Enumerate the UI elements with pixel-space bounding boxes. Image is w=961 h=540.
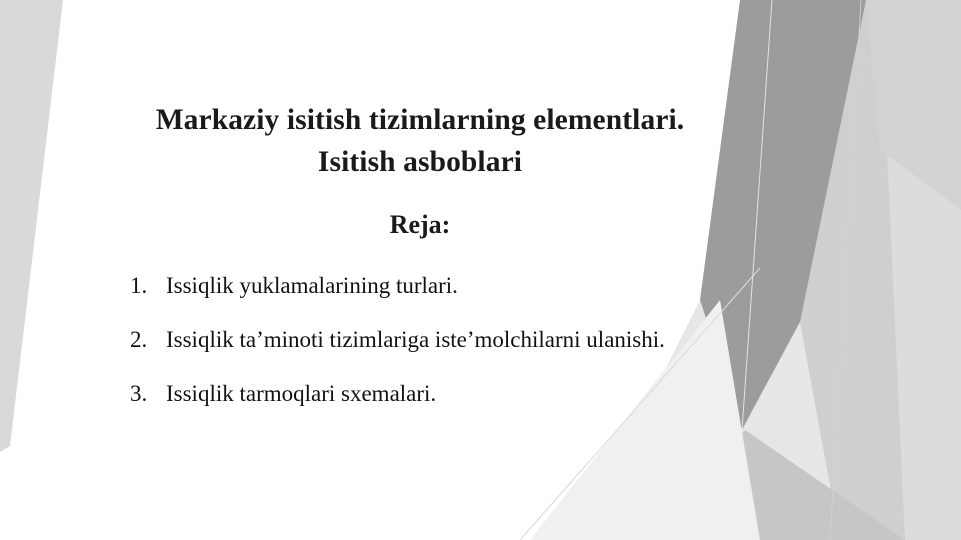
- list-item: 2. Issiqlik ta’minoti tizimlariga iste’m…: [130, 326, 890, 353]
- slide-canvas: Markaziy isitish tizimlarning elementlar…: [0, 0, 961, 540]
- list-item-label: Issiqlik tarmoqlari sxemalari.: [166, 380, 890, 407]
- list-item: 1. Issiqlik yuklamalarining turlari.: [130, 272, 890, 299]
- list-item-number: 3.: [130, 380, 166, 407]
- agenda-list: 1. Issiqlik yuklamalarining turlari. 2. …: [130, 272, 890, 434]
- list-item-label: Issiqlik yuklamalarining turlari.: [166, 272, 890, 299]
- agenda-heading: Reja:: [60, 208, 780, 242]
- list-item-label: Issiqlik ta’minoti tizimlariga iste’molc…: [166, 326, 890, 353]
- title-line-2: Isitish asboblari: [60, 142, 780, 184]
- list-item: 3. Issiqlik tarmoqlari sxemalari.: [130, 380, 890, 407]
- list-item-number: 1.: [130, 272, 166, 299]
- slide-title: Markaziy isitish tizimlarning elementlar…: [60, 100, 780, 184]
- list-item-number: 2.: [130, 326, 166, 353]
- slide-content: Markaziy isitish tizimlarning elementlar…: [0, 0, 961, 540]
- title-line-1: Markaziy isitish tizimlarning elementlar…: [60, 100, 780, 142]
